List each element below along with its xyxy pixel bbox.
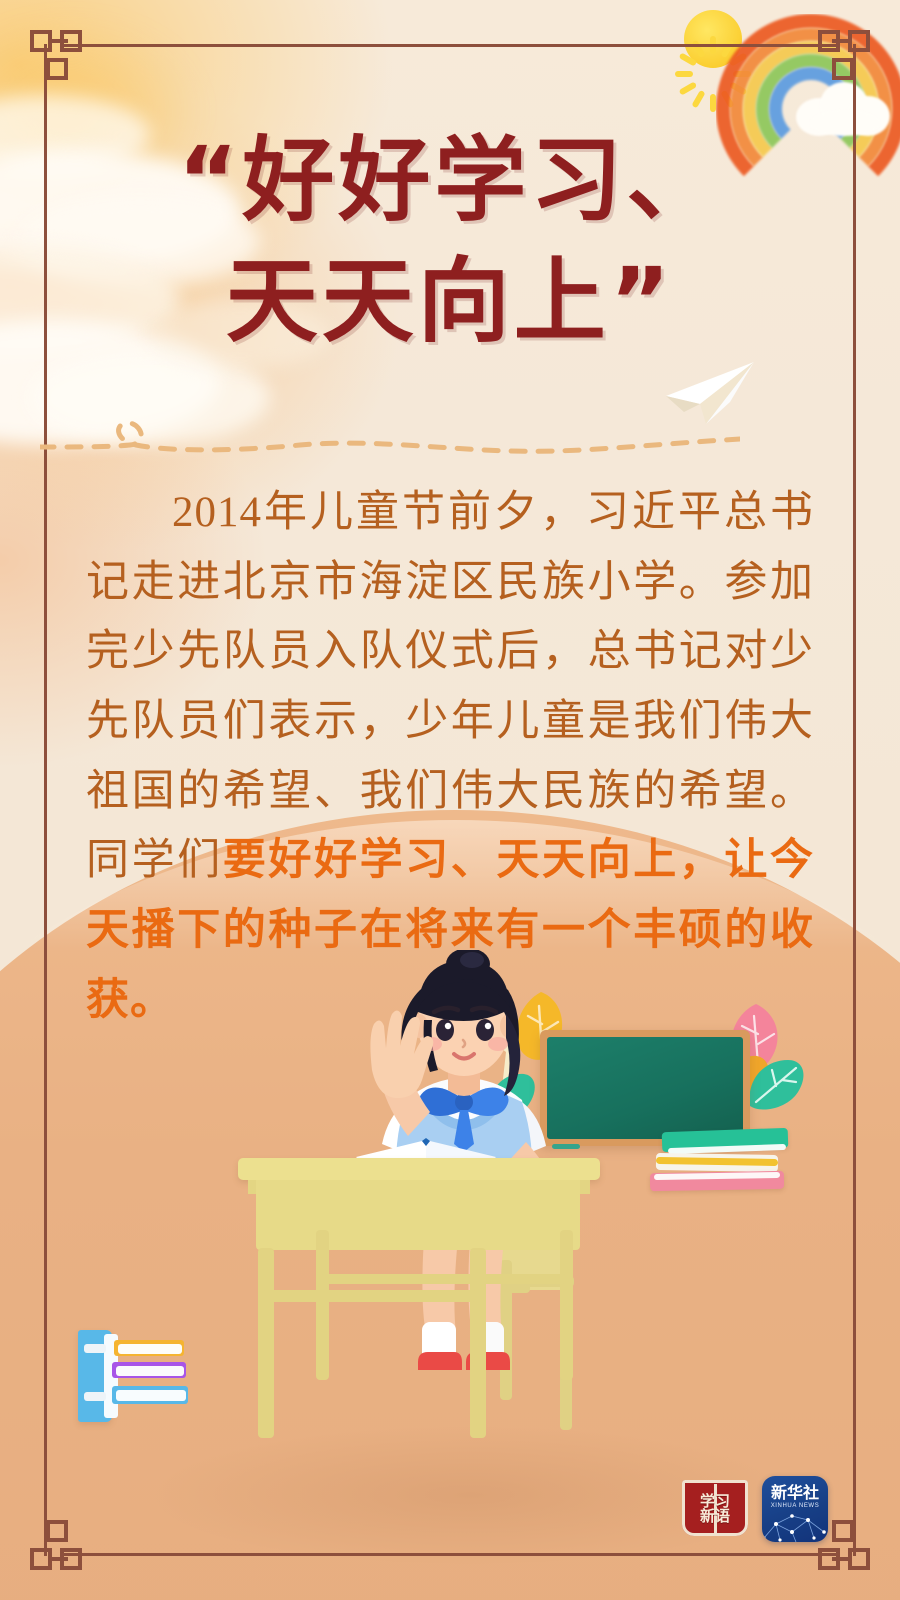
sun-ray [679, 81, 698, 95]
xinhua-news-logo[interactable]: 新华社 XINHUA NEWS [762, 1476, 828, 1542]
floor-book-band-bottom [84, 1392, 106, 1401]
floor-book-yellow-pages [118, 1344, 182, 1354]
title-line-2: 天天向上” [0, 241, 900, 362]
paragraph-normal-text: 2014年儿童节前夕，习近平总书记走进北京市海淀区民族小学。参加完少先队员入队仪… [86, 489, 814, 884]
paper-plane-icon [660, 360, 756, 426]
xuexi-xinyu-logo[interactable]: 学习 新语 [682, 1476, 748, 1542]
xuexi-logo-text: 学习 新语 [700, 1494, 730, 1524]
desk-leg-back-left [316, 1230, 329, 1380]
school-desk-body [256, 1180, 580, 1250]
poster-root: “好好学习、 天天向上” 2014年儿童节前夕，习近平总书记走进北京市海淀区民族… [0, 0, 900, 1600]
sun-ray [675, 71, 693, 77]
floor-book-blue-pages [116, 1390, 186, 1401]
floor-book-purple-pages [116, 1366, 184, 1376]
desk-leg-back-right [560, 1230, 573, 1380]
title-line-1: “好好学习、 [0, 120, 900, 241]
desk-leg-front-left [258, 1248, 274, 1438]
xinhua-network-icon [762, 1512, 828, 1542]
leaf-decoration-green [746, 1056, 808, 1114]
dashed-trail [40, 395, 740, 465]
classroom-illustration [0, 930, 900, 1550]
logo-group: 学习 新语 新华社 XINHUA NEWS [682, 1476, 828, 1542]
desk-rail-back [320, 1274, 566, 1284]
floor-book-band-top [84, 1344, 106, 1353]
xinhua-logo-en: XINHUA NEWS [771, 1503, 820, 1509]
school-desk-top [238, 1158, 600, 1180]
sun-ray [691, 90, 705, 109]
xinhua-logo-cn: 新华社 [771, 1484, 819, 1501]
xuexi-logo-line2: 新语 [700, 1509, 730, 1524]
desk-rail-front [262, 1290, 476, 1302]
poster-title: “好好学习、 天天向上” [0, 120, 900, 363]
